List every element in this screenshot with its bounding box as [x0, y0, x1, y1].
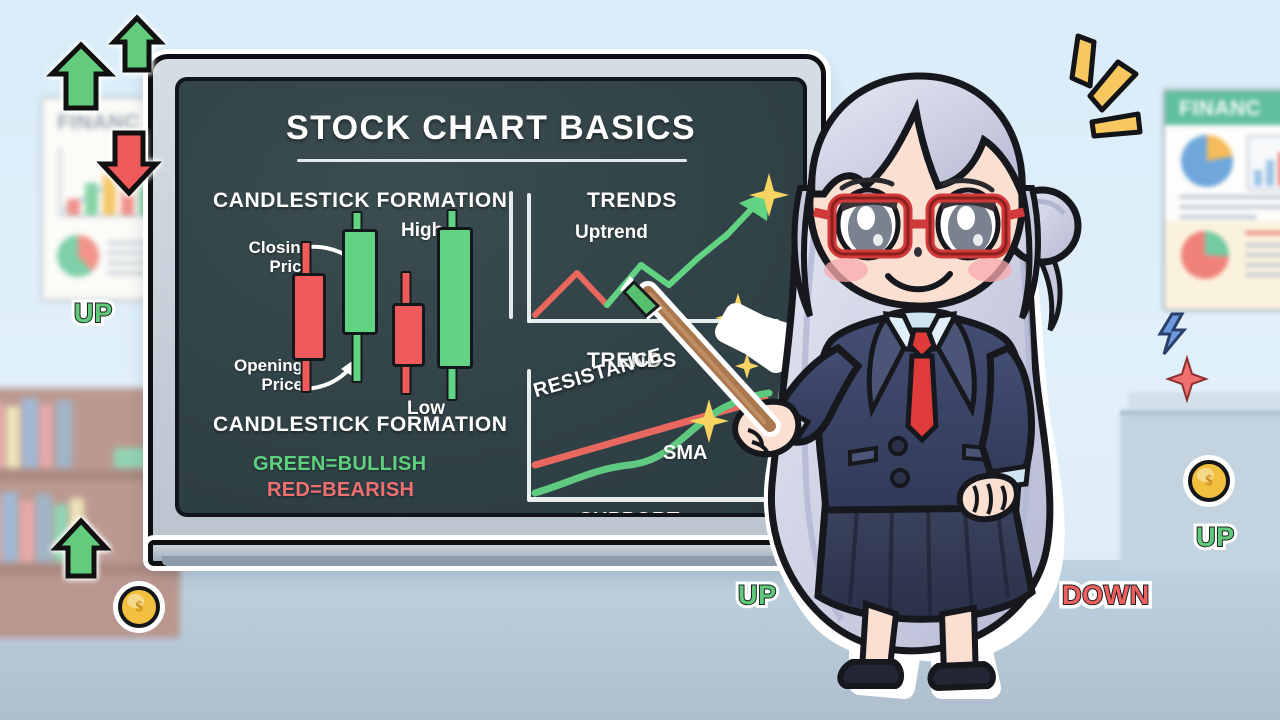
- legend-bullish: GREEN=BULLISH: [253, 453, 426, 476]
- scene-root: FINANC FINANC: [0, 0, 1280, 720]
- badge-down-right: DOWN DOWN DOWN: [1062, 580, 1150, 611]
- green-up-arrow-top-icon: [110, 16, 164, 74]
- candle-3-bearish: [392, 271, 419, 393]
- coin-icon-2: $: [1188, 460, 1230, 502]
- green-up-arrow-top-2-icon: [48, 42, 114, 112]
- badge-up-right: UP UP UP: [1196, 522, 1235, 553]
- vertical-divider: [509, 191, 513, 319]
- title-underline: [297, 159, 687, 162]
- badge-up-center: UP UP UP: [738, 580, 777, 611]
- label-opening-price-line2: Price: [207, 376, 303, 394]
- poster-right: FINANC: [1162, 88, 1280, 312]
- green-up-arrow-bottom-icon: [52, 518, 110, 580]
- candle-1-bearish: [292, 241, 320, 391]
- badge-up-left: UP UP UP: [74, 298, 113, 329]
- poster-right-title: FINANC: [1179, 97, 1261, 121]
- lightning-bolt-icon: [1156, 312, 1190, 356]
- legend-bearish: RED=BEARISH: [267, 479, 414, 502]
- emphasis-marks-icon: [1060, 26, 1170, 146]
- red-down-arrow-top-icon: [98, 130, 160, 196]
- coin-icon-1: $: [118, 586, 160, 628]
- candle-2-bullish: [342, 211, 372, 381]
- red-sparkle-icon: [1168, 358, 1206, 400]
- pointer-stick: [614, 274, 794, 454]
- label-opening-price-line1: Opening: [207, 357, 303, 375]
- heading-candlestick-formation-2: CANDLESTICK FORMATION: [213, 413, 508, 437]
- candle-4-bullish: [437, 209, 467, 399]
- label-support: SUPPORT: [579, 509, 680, 517]
